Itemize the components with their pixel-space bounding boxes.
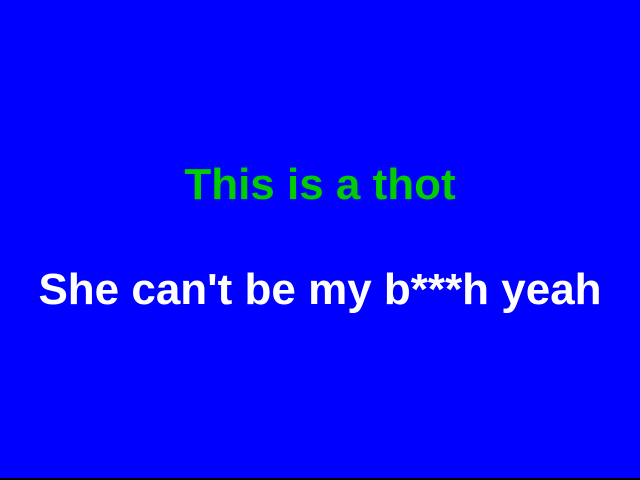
karaoke-screen: This is a thot She can't be my b***h yea…: [0, 0, 640, 480]
lyric-line-next: She can't be my b***h yeah: [0, 268, 640, 312]
lyric-line-active: This is a thot: [0, 163, 640, 207]
